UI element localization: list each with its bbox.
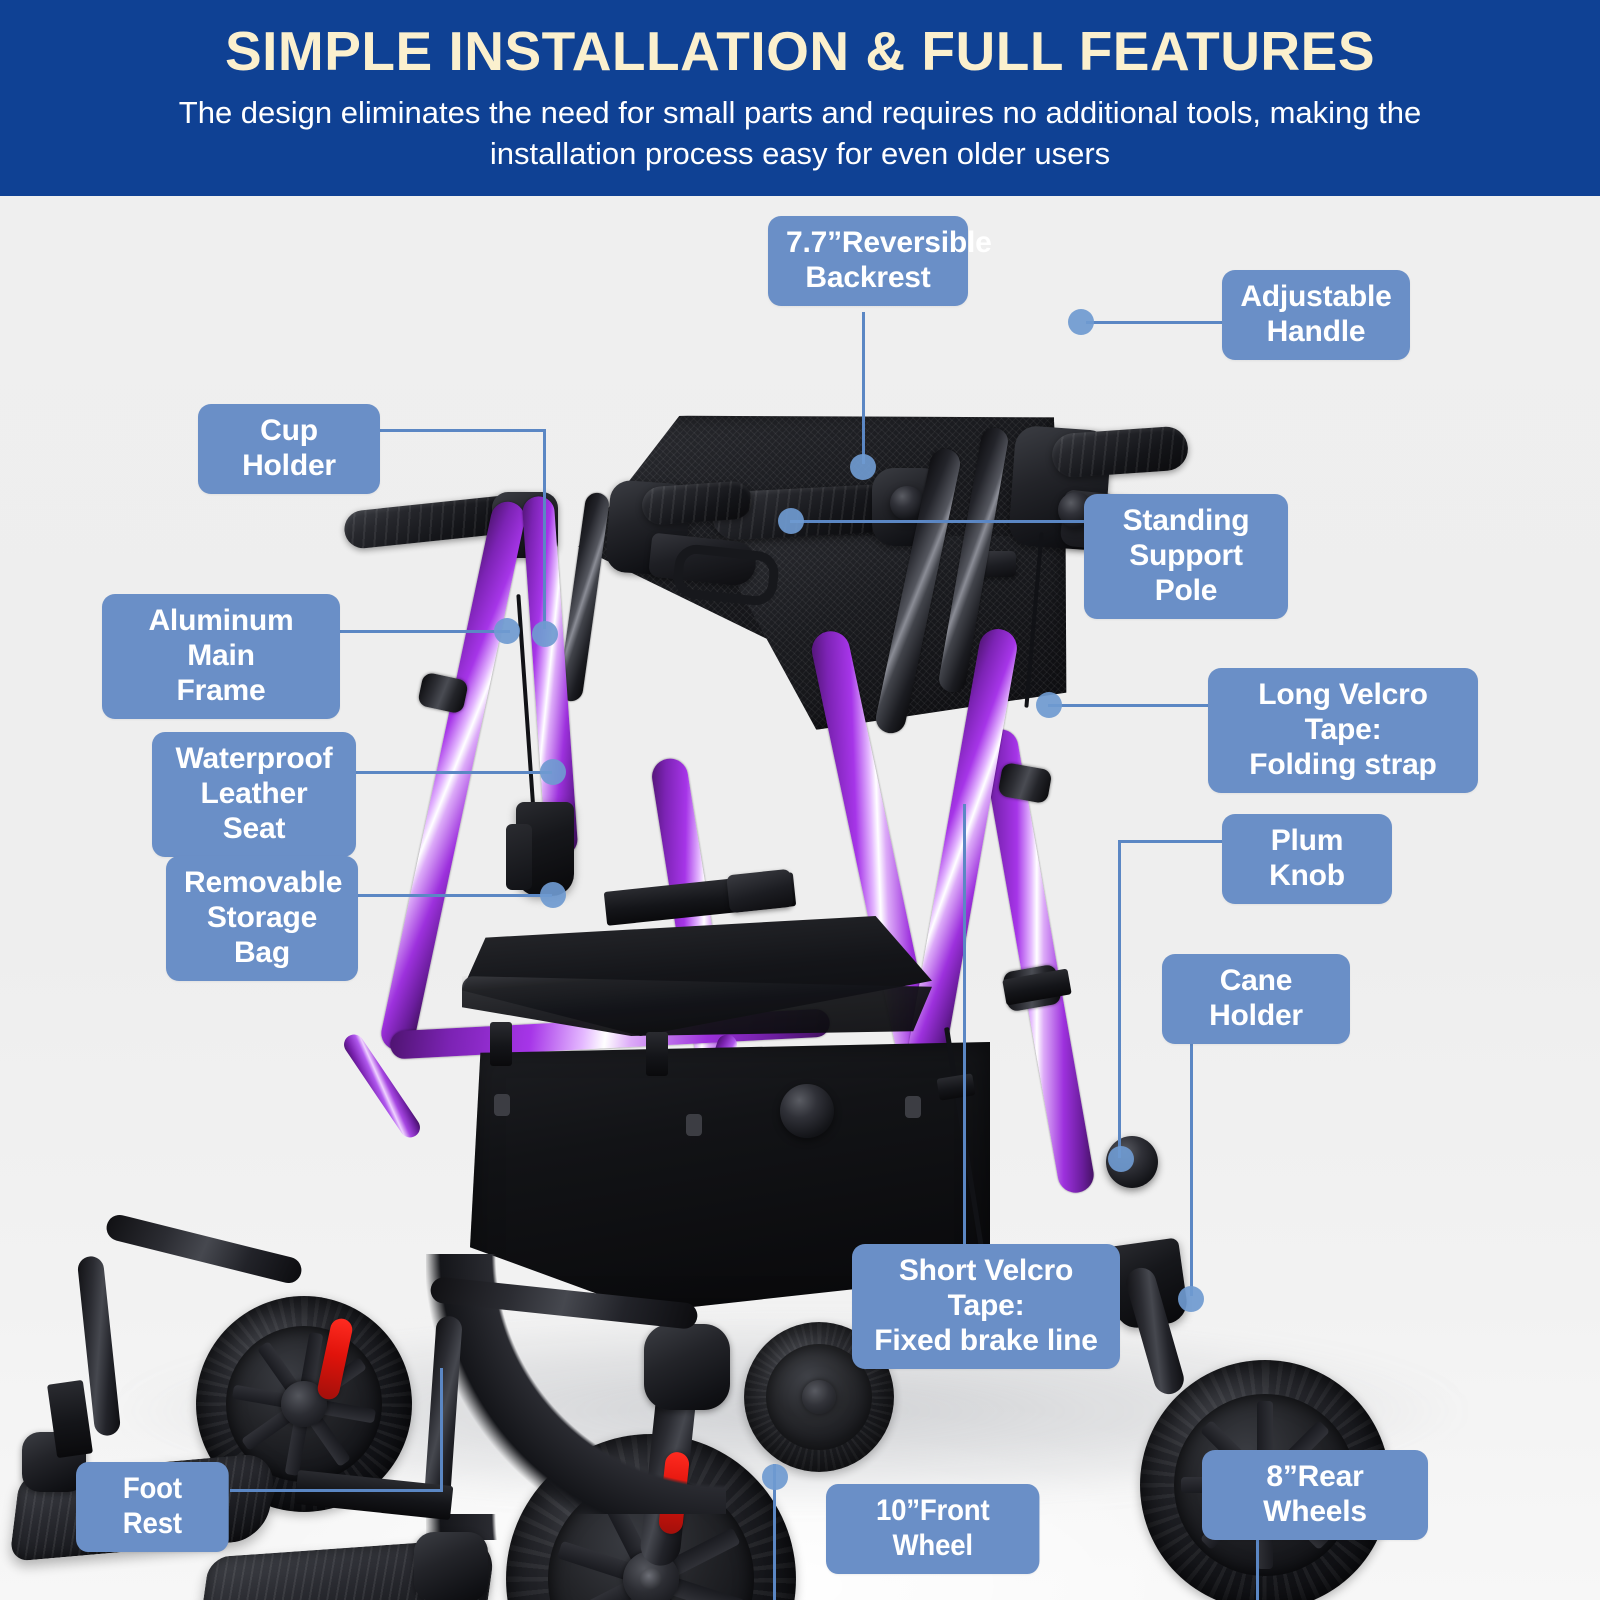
plum-knob bbox=[780, 1084, 834, 1138]
anchor-dot-adjustable-handle bbox=[1068, 309, 1094, 335]
right-grip-texture bbox=[1051, 425, 1190, 478]
callout-short-velcro-tape[interactable]: Short Velcro Tape: Fixed brake line bbox=[852, 1244, 1120, 1369]
storage-bag-rivet-right bbox=[905, 1096, 921, 1118]
callout-rear-wheels[interactable]: 8”Rear Wheels bbox=[1202, 1450, 1428, 1540]
anchor-dot-backrest bbox=[850, 454, 876, 480]
infographic-page: SIMPLE INSTALLATION & FULL FEATURES The … bbox=[0, 0, 1600, 1600]
left-brake-lever-loop bbox=[671, 543, 780, 608]
callout-long-velcro-tape[interactable]: Long Velcro Tape: Folding strap bbox=[1208, 668, 1478, 793]
callout-cup-holder[interactable]: Cup Holder bbox=[198, 404, 380, 494]
storage-bag-loop-mid bbox=[646, 1032, 668, 1076]
storage-bag-rivet-mid bbox=[686, 1114, 702, 1136]
product-photo-stage: 7.7”Reversible Backrest Adjustable Handl… bbox=[0, 196, 1600, 1600]
leader-line-plum-knob bbox=[1118, 840, 1222, 843]
leader-line-adjustable-handle bbox=[1086, 321, 1222, 324]
callout-waterproof-leather-seat[interactable]: Waterproof Leather Seat bbox=[152, 732, 356, 857]
anchor-dot-storage-bag bbox=[540, 882, 566, 908]
anchor-dot-cane-holder bbox=[1178, 1286, 1204, 1312]
anchor-dot-front-wheel bbox=[762, 1464, 788, 1490]
rear-left-swing-arm-upper bbox=[104, 1212, 304, 1286]
front-wheel-far-hub bbox=[802, 1380, 836, 1414]
left-handle-grip bbox=[641, 480, 753, 526]
leader-line-long-velcro bbox=[1048, 704, 1210, 707]
callout-plum-knob[interactable]: Plum Knob bbox=[1222, 814, 1392, 904]
leader-line-plum-knob-drop bbox=[1118, 840, 1121, 1158]
callout-reversible-backrest[interactable]: 7.7”Reversible Backrest bbox=[768, 216, 968, 306]
page-title: SIMPLE INSTALLATION & FULL FEATURES bbox=[225, 22, 1375, 81]
header-banner: SIMPLE INSTALLATION & FULL FEATURES The … bbox=[0, 0, 1600, 196]
leader-line-cup-holder bbox=[380, 429, 546, 432]
leader-line-foot-rest-rise bbox=[440, 1368, 443, 1492]
anchor-dot-plum-knob bbox=[1108, 1146, 1134, 1172]
leader-line-main-frame bbox=[338, 630, 510, 633]
right-handle-grip bbox=[1051, 425, 1190, 478]
front-wheel-axle bbox=[640, 1568, 662, 1590]
callout-front-wheel[interactable]: 10”Front Wheel bbox=[826, 1484, 1039, 1574]
storage-bag-rivet-left bbox=[494, 1094, 510, 1116]
anchor-dot-main-frame bbox=[494, 618, 520, 644]
leader-line-storage-bag bbox=[340, 894, 552, 897]
callout-adjustable-handle[interactable]: Adjustable Handle bbox=[1222, 270, 1410, 360]
page-subtitle: The design eliminates the need for small… bbox=[120, 93, 1480, 174]
left-grip-texture bbox=[641, 480, 753, 526]
callout-foot-rest[interactable]: Foot Rest bbox=[76, 1462, 229, 1552]
callout-standing-support-pole[interactable]: Standing Support Pole bbox=[1084, 494, 1288, 619]
leader-line-seat bbox=[352, 771, 552, 774]
callout-removable-storage-bag[interactable]: Removable Storage Bag bbox=[166, 856, 358, 981]
leader-line-cane-holder bbox=[1190, 1012, 1193, 1296]
seat-strap-buckle bbox=[726, 869, 794, 913]
cup-holder-bracket bbox=[506, 824, 532, 890]
anchor-dot-cup-holder bbox=[532, 621, 558, 647]
anchor-dot-standing-pole bbox=[778, 508, 804, 534]
leader-line-short-velcro bbox=[963, 804, 966, 1244]
anchor-dot-seat bbox=[540, 759, 566, 785]
callout-aluminum-main-frame[interactable]: Aluminum Main Frame bbox=[102, 594, 340, 719]
foot-rest-front-hinge bbox=[414, 1532, 488, 1600]
storage-bag-loop-left bbox=[490, 1022, 512, 1066]
callout-cane-holder[interactable]: Cane Holder bbox=[1162, 954, 1350, 1044]
leader-line-foot-rest bbox=[230, 1489, 442, 1492]
leader-line-cup-holder-drop bbox=[543, 429, 546, 629]
leader-line-backrest bbox=[862, 312, 865, 464]
leader-line-standing-pole bbox=[790, 520, 1084, 523]
anchor-dot-long-velcro bbox=[1036, 692, 1062, 718]
